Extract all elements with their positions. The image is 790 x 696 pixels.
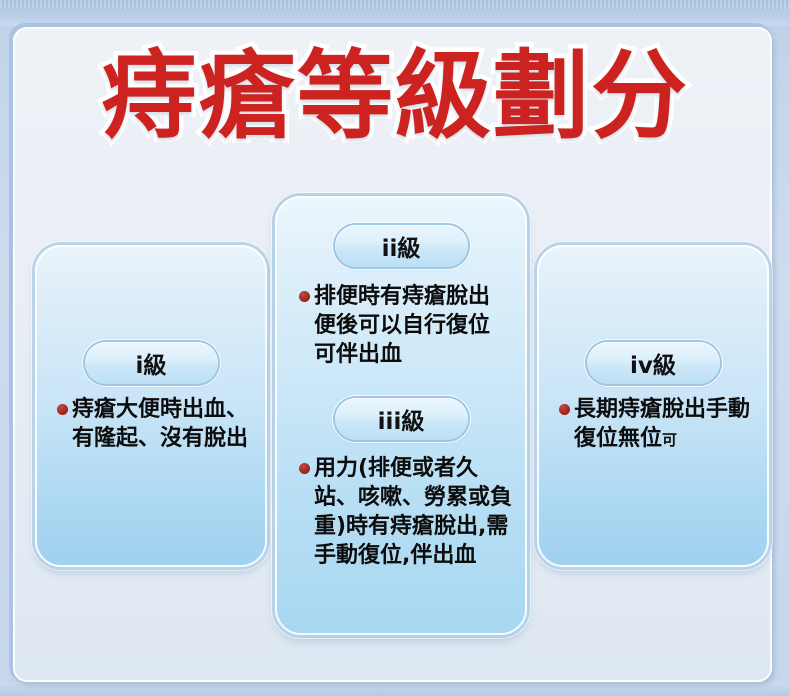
page-title: 痔瘡等級劃分	[0, 48, 790, 144]
bullet-dot-icon	[57, 404, 68, 415]
list-item-label: 長期痔瘡脫出手動復位無位可	[574, 395, 759, 455]
list-item-label: 痔瘡大便時出血、有隆起、沒有脫出	[72, 395, 253, 453]
grade-card-iv[interactable]: iv級 長期痔瘡脫出手動復位無位可	[537, 245, 769, 567]
list-item: 用力(排便或者久站、咳嗽、勞累或負重)時有痔瘡脫出,需手動復位,伴出血	[299, 454, 515, 570]
bullet-dot-icon	[299, 291, 310, 302]
list-item-label: 用力(排便或者久站、咳嗽、勞累或負重)時有痔瘡脫出,需手動復位,伴出血	[314, 454, 515, 570]
badge-wrap-iii: iii級	[275, 398, 527, 440]
bullet-dot-icon	[559, 404, 570, 415]
grade-description-iii: 用力(排便或者久站、咳嗽、勞累或負重)時有痔瘡脫出,需手動復位,伴出血	[299, 454, 515, 570]
grade-badge-ii[interactable]: ii級	[335, 225, 468, 267]
slide-canvas: 痔瘡等級劃分 i級 痔瘡大便時出血、有隆起、沒有脫出 ii級 排便時有痔瘡脫出便…	[0, 0, 790, 696]
badge-wrap-i: i級	[35, 342, 267, 384]
outer-frame-top	[0, 0, 790, 26]
grade-description-iv: 長期痔瘡脫出手動復位無位可	[559, 395, 759, 455]
bullet-dot-icon	[299, 463, 310, 474]
badge-wrap-ii: ii級	[275, 225, 527, 267]
grade-card-ii-iii[interactable]: ii級 排便時有痔瘡脫出便後可以自行復位可伴出血 iii級 用力(排便或者久站、…	[275, 196, 527, 635]
list-item: 長期痔瘡脫出手動復位無位可	[559, 395, 759, 455]
grade-badge-i[interactable]: i級	[85, 342, 218, 384]
grade-badge-iii[interactable]: iii級	[335, 398, 468, 440]
list-item-label: 排便時有痔瘡脫出便後可以自行復位可伴出血	[314, 282, 511, 369]
grade-description-ii: 排便時有痔瘡脫出便後可以自行復位可伴出血	[299, 282, 511, 369]
badge-wrap-iv: iv級	[537, 342, 769, 384]
grade-card-i[interactable]: i級 痔瘡大便時出血、有隆起、沒有脫出	[35, 245, 267, 567]
list-item: 痔瘡大便時出血、有隆起、沒有脫出	[57, 395, 253, 453]
outer-frame-bottom	[0, 682, 790, 696]
list-item-label-tail: 可	[662, 431, 677, 449]
list-item: 排便時有痔瘡脫出便後可以自行復位可伴出血	[299, 282, 511, 369]
grade-badge-iv[interactable]: iv級	[587, 342, 720, 384]
grade-description-i: 痔瘡大便時出血、有隆起、沒有脫出	[57, 395, 253, 453]
